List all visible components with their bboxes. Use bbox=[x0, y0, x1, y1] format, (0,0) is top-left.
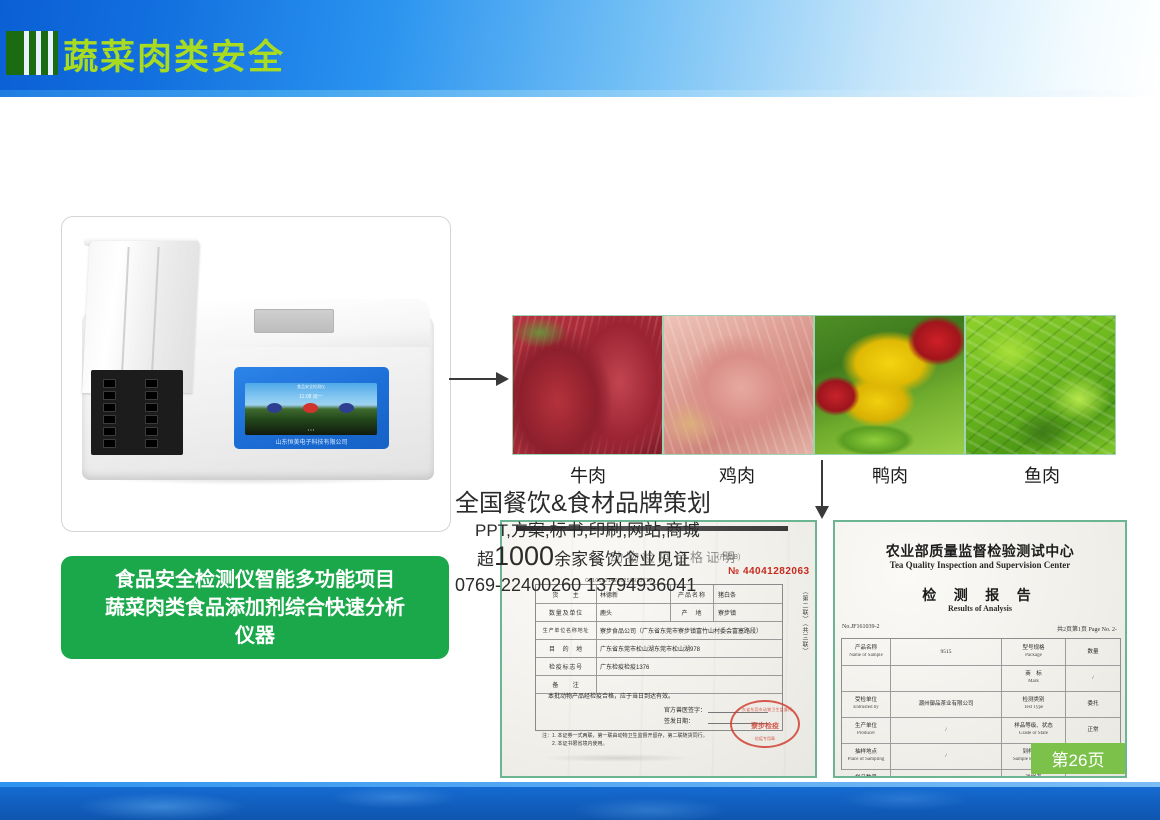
report-subtitle-cn: 检 测 报 告 bbox=[835, 585, 1125, 605]
certificate-smudge bbox=[542, 754, 692, 762]
certificate-issue-date-label: 签发日期： bbox=[664, 716, 694, 725]
table-row: 受检单位Entrusted by 潮州御品茶业有限公司 检测类别Test Typ… bbox=[842, 691, 1120, 718]
screen-app-icon-left bbox=[267, 403, 282, 413]
food-image-chicken bbox=[663, 315, 814, 455]
caption-line-3: 仪器 bbox=[105, 622, 405, 650]
table-row: 生产单位名称地址 寮步食品公司（广东省东莞市寮步镇富竹山村委会富塞路段） bbox=[536, 621, 782, 640]
screen-app-icon-right bbox=[339, 403, 354, 413]
table-row: 商 标Mark / bbox=[842, 665, 1120, 692]
food-label-fish: 鱼肉 bbox=[982, 462, 1102, 488]
table-row: 产品名称Name of Sample 9515 型号规格Package 数量 bbox=[842, 639, 1120, 666]
page-footer bbox=[0, 782, 1160, 820]
device-sample-well bbox=[91, 370, 183, 455]
food-label-duck: 鸭肉 bbox=[830, 462, 950, 488]
food-label-row: 牛肉 鸡肉 鸭肉 鱼肉 bbox=[512, 462, 1117, 488]
food-image-fish bbox=[965, 315, 1116, 455]
certificate-serial: № 44041282063 bbox=[728, 566, 810, 577]
device-photo-panel: 食品安全检测仪 11:08 周一 • • • 山东恒美电子科技有限公司 bbox=[61, 216, 451, 532]
screen-title: 食品安全检测仪 bbox=[245, 384, 377, 390]
document-analysis-report: 农业部质量监督检验测试中心 Tea Quality Inspection and… bbox=[833, 520, 1127, 778]
table-row: 数量及单位 鹿头 产 地 寮步镇 bbox=[536, 603, 782, 622]
document-quarantine-certificate: 动物检疫合格证明 (产品B) № 44041282063 C0101121421… bbox=[500, 520, 817, 778]
table-row: 检疫标志号 广东检疫检疫1376 bbox=[536, 657, 782, 676]
header-underline bbox=[0, 90, 1160, 97]
table-row: 生产单位Producer / 样品等级、状态Grade or State 正常 bbox=[842, 717, 1120, 744]
page-header: 蔬菜肉类安全 bbox=[0, 0, 1160, 96]
arrow-right-icon bbox=[449, 378, 507, 380]
stripes-block-icon bbox=[6, 31, 58, 75]
report-number: No.JF161039-2 bbox=[842, 624, 880, 630]
certificate-top-bar bbox=[516, 526, 788, 531]
food-image-beef bbox=[512, 315, 663, 455]
device-brand-text: 山东恒美电子科技有限公司 bbox=[234, 437, 389, 446]
device-printer-slot bbox=[254, 309, 334, 333]
caption-line-2: 蔬菜肉类食品添加剂综合快速分析 bbox=[105, 594, 405, 622]
food-label-chicken: 鸡肉 bbox=[677, 462, 797, 488]
screen-pager-dots: • • • bbox=[245, 427, 377, 432]
device-screen: 食品安全检测仪 11:08 周一 • • • bbox=[245, 383, 377, 435]
certificate-note: 本批动物产品经检疫合格，应于当日到达有效。 bbox=[548, 691, 674, 700]
page-number-badge: 第26页 bbox=[1031, 743, 1125, 774]
report-title-en: Tea Quality Inspection and Supervision C… bbox=[835, 560, 1125, 570]
report-subtitle-en: Results of Analysis bbox=[835, 604, 1125, 613]
page-title: 蔬菜肉类安全 bbox=[63, 36, 285, 80]
certificate-side-text: （第二联）（共三联） bbox=[795, 588, 809, 655]
footer-top-edge bbox=[0, 782, 1160, 787]
watermark-line-1: 全国餐饮&食材品牌策划 bbox=[455, 489, 785, 519]
report-page-indicator: 共2页第1页 Page No. 2- bbox=[1057, 624, 1117, 633]
certificate-red-stamp: 广东省东莞市动物卫生监督所 寮步检疫 检疫专用章 bbox=[730, 700, 800, 748]
certificate-product-tag: (产品B) bbox=[717, 552, 740, 562]
certificate-footnote: 注：1. 本证券一式两联，第一联由动物卫生监督开留存，第二联随货同行。 2. 本… bbox=[542, 732, 708, 748]
table-row: 目 的 地 广东省东莞市松山湖东莞市松山湖978 bbox=[536, 639, 782, 658]
device-caption: 食品安全检测仪智能多功能项目 蔬菜肉类食品添加剂综合快速分析 仪器 bbox=[61, 556, 449, 659]
screen-app-icon-center bbox=[303, 403, 318, 413]
report-title-cn: 农业部质量监督检验测试中心 bbox=[835, 541, 1125, 561]
device-screen-bezel: 食品安全检测仪 11:08 周一 • • • 山东恒美电子科技有限公司 bbox=[234, 367, 389, 449]
food-label-beef: 牛肉 bbox=[528, 462, 648, 488]
caption-line-1: 食品安全检测仪智能多功能项目 bbox=[105, 566, 405, 594]
food-image-duck bbox=[814, 315, 965, 455]
certificate-vet-signature-label: 官方兽医签字： bbox=[664, 705, 706, 714]
table-row: 货 主 林德新 产品名称 猪白条 bbox=[536, 585, 782, 604]
certificate-table: 货 主 林德新 产品名称 猪白条 数量及单位 鹿头 产 地 寮步镇 生产单位名称… bbox=[535, 584, 783, 731]
slide-canvas: 食品安全检测仪 11:08 周一 • • • 山东恒美电子科技有限公司 食品安全… bbox=[0, 97, 1160, 771]
screen-time: 11:08 周一 bbox=[245, 393, 377, 400]
food-image-strip bbox=[512, 315, 1117, 455]
